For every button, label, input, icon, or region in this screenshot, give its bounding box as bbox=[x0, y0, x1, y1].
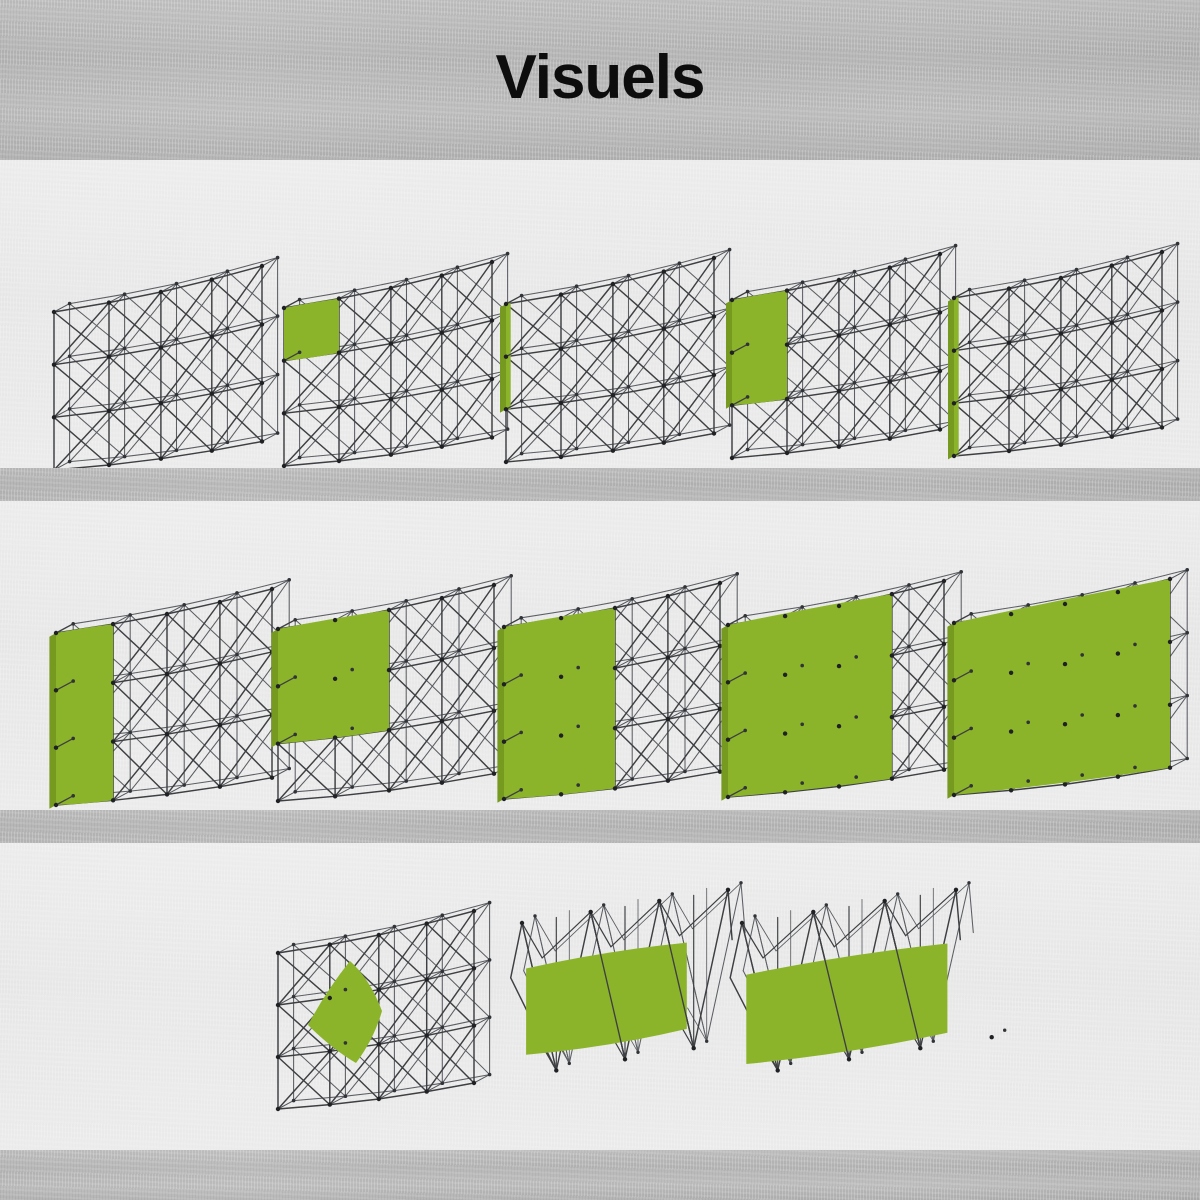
graphic-side-face bbox=[49, 633, 56, 809]
page-title: Visuels bbox=[0, 42, 1200, 113]
graphic-panel bbox=[526, 943, 687, 1055]
divider1-texture bbox=[0, 468, 1200, 501]
graphic-face bbox=[56, 624, 113, 805]
graphic-panel bbox=[497, 608, 615, 803]
frame-lattice bbox=[954, 244, 1178, 456]
graphic-face bbox=[308, 961, 382, 1063]
graphic-panel bbox=[284, 299, 339, 361]
graphic-face bbox=[284, 299, 339, 361]
graphic-face bbox=[954, 297, 959, 456]
visual-item-3-1[interactable] bbox=[252, 885, 528, 1149]
graphic-side-face bbox=[497, 627, 504, 803]
row3-frames bbox=[0, 843, 1200, 1150]
visual-item-2-5[interactable] bbox=[928, 553, 1200, 810]
graphic-face bbox=[526, 943, 687, 1055]
footer-band bbox=[0, 1150, 1200, 1200]
graphic-face bbox=[504, 608, 615, 799]
graphic-panel bbox=[49, 624, 113, 809]
graphic-side-face bbox=[721, 625, 728, 801]
visuals-page: Visuels bbox=[0, 0, 1200, 1200]
frame-lattice bbox=[506, 250, 730, 462]
graphic-side-face bbox=[947, 623, 954, 799]
collapsed-frame-diagram bbox=[716, 891, 982, 1109]
graphic-panel bbox=[271, 610, 389, 747]
frame-lattice bbox=[54, 258, 278, 468]
row-progressive-coverage bbox=[0, 501, 1200, 810]
divider2-texture bbox=[0, 810, 1200, 843]
graphic-panel bbox=[308, 961, 382, 1063]
footer-texture bbox=[0, 1150, 1200, 1200]
graphic-face bbox=[728, 594, 892, 797]
popup-frame-diagram bbox=[928, 553, 1200, 810]
graphic-panel bbox=[726, 291, 787, 409]
graphic-panel bbox=[746, 944, 947, 1065]
visual-item-1-5[interactable] bbox=[928, 226, 1200, 468]
frame-lattice bbox=[284, 254, 508, 466]
divider-band-1 bbox=[0, 468, 1200, 501]
frame-lattice bbox=[278, 903, 490, 1109]
popup-frame-diagram bbox=[928, 226, 1200, 468]
row-standard-frames bbox=[0, 160, 1200, 468]
graphic-face bbox=[746, 944, 947, 1065]
graphic-side-face bbox=[948, 298, 954, 459]
graphic-panel bbox=[721, 594, 892, 801]
graphic-panel bbox=[948, 297, 959, 459]
visual-item-3-3[interactable] bbox=[716, 891, 982, 1109]
row2-frames bbox=[0, 501, 1200, 810]
popup-frame-diagram bbox=[252, 885, 528, 1149]
header-band: Visuels bbox=[0, 0, 1200, 160]
divider-band-2 bbox=[0, 810, 1200, 843]
row-collapsed-frames bbox=[0, 843, 1200, 1150]
